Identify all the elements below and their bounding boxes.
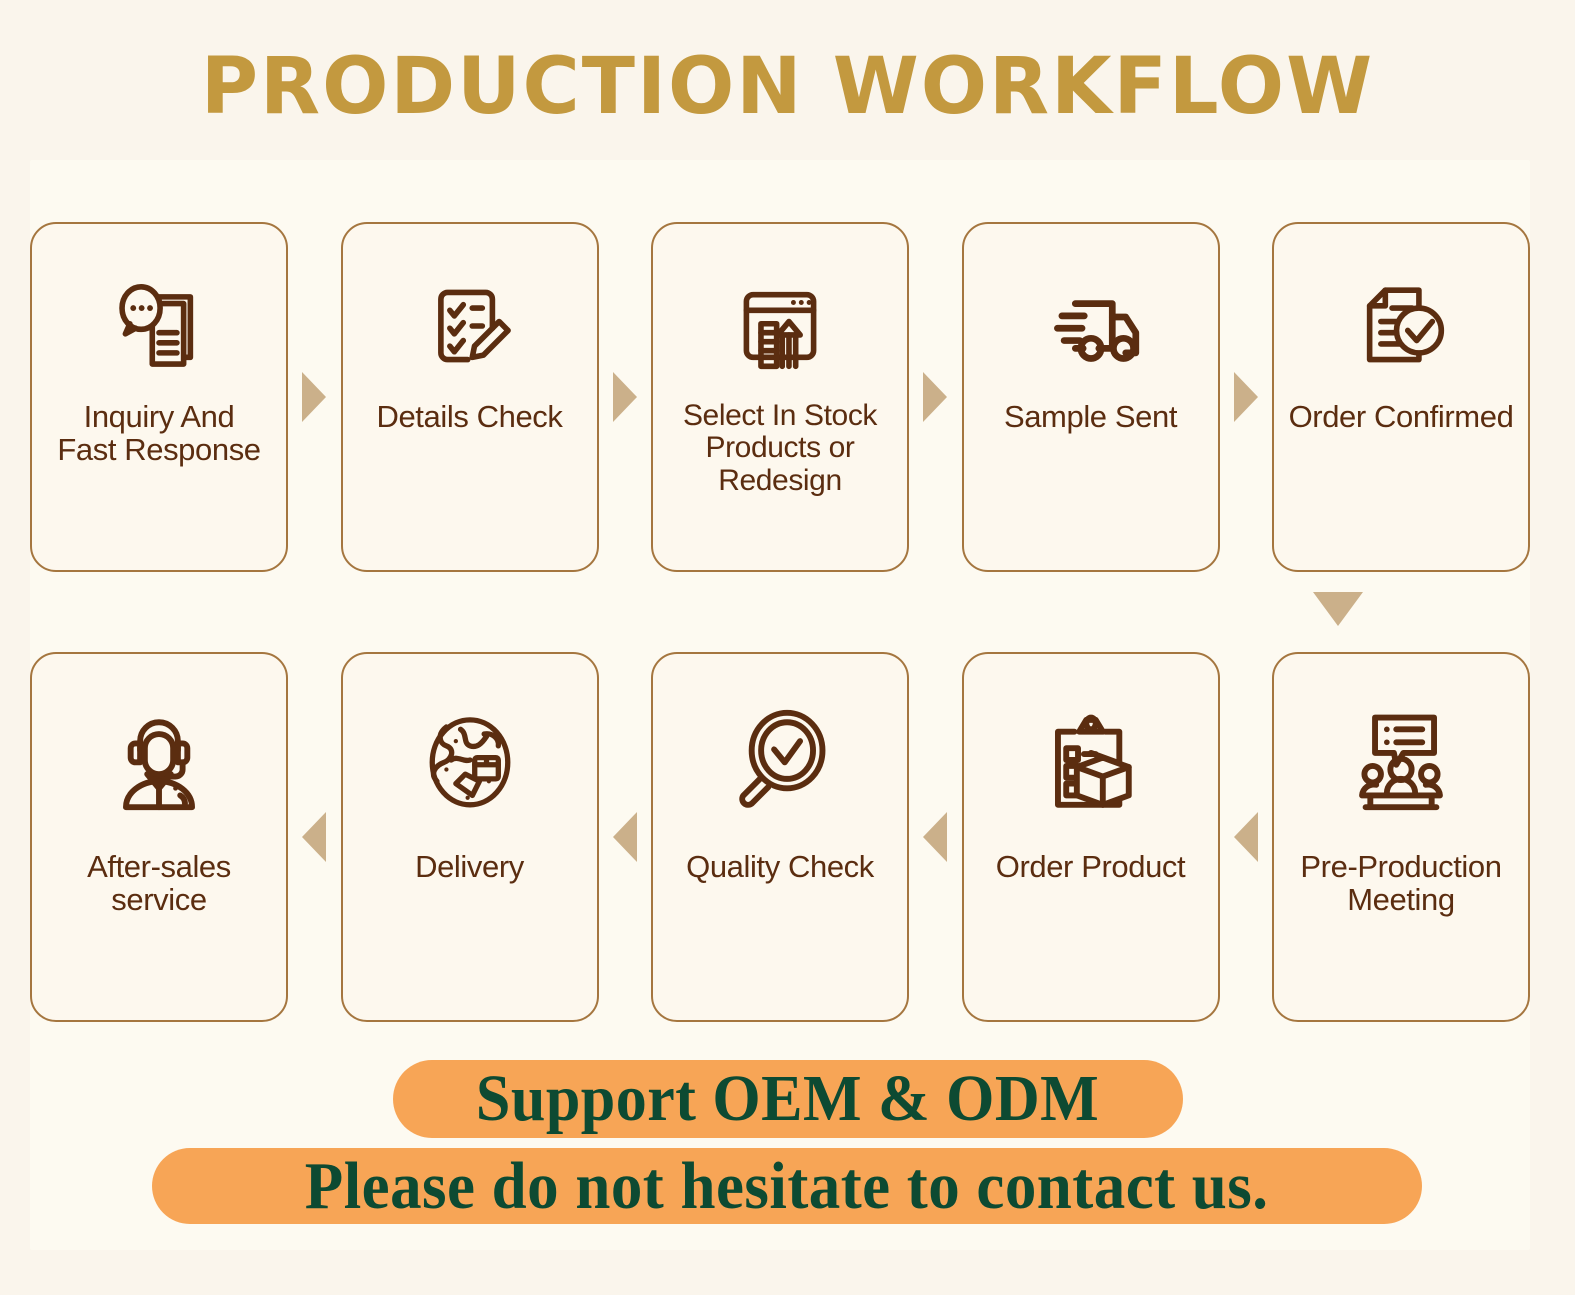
browser-chart-icon xyxy=(720,266,840,386)
workflow-card-label: Order Confirmed xyxy=(1284,400,1518,433)
banner-contact-us: Please do not hesitate to contact us. xyxy=(152,1148,1422,1224)
delivery-truck-icon xyxy=(1031,266,1151,386)
triangle-left-icon xyxy=(923,812,947,862)
flow-connector xyxy=(288,652,341,1022)
flow-connector xyxy=(288,222,341,572)
globe-package-icon xyxy=(410,700,530,820)
workflow-card-label: Pre-Production Meeting xyxy=(1284,850,1518,917)
clipboard-box-icon xyxy=(1031,700,1151,820)
meeting-people-icon xyxy=(1341,700,1461,820)
banner-text: Support OEM & ODM xyxy=(476,1061,1099,1137)
workflow-card-label: Inquiry And Fast Response xyxy=(42,400,276,467)
flow-connector xyxy=(1220,652,1273,1022)
headset-agent-icon xyxy=(99,700,219,820)
workflow-card-label: Details Check xyxy=(353,400,587,433)
workflow-card-order-product[interactable]: Order Product xyxy=(962,652,1220,1022)
flow-connector xyxy=(909,652,962,1022)
banner-support-oem-odm: Support OEM & ODM xyxy=(393,1060,1183,1138)
triangle-right-icon xyxy=(1234,372,1258,422)
flow-connector xyxy=(599,652,652,1022)
flow-connector xyxy=(599,222,652,572)
workflow-card-details-check[interactable]: Details Check xyxy=(341,222,599,572)
workflow-row-2: After-sales service xyxy=(30,652,1530,1022)
workflow-row-1: Inquiry And Fast Response Details Check xyxy=(30,222,1530,572)
workflow-card-label: Order Product xyxy=(974,850,1208,883)
flow-connector xyxy=(909,222,962,572)
workflow-card-label: Select In Stock Products or Redesign xyxy=(663,400,897,497)
page-title: PRODUCTION WORKFLOW xyxy=(0,48,1575,126)
workflow-card-label: Sample Sent xyxy=(974,400,1208,433)
workflow-card-quality-check[interactable]: Quality Check xyxy=(651,652,909,1022)
checklist-pencil-icon xyxy=(410,266,530,386)
banner-text: Please do not hesitate to contact us. xyxy=(305,1148,1269,1225)
triangle-right-icon xyxy=(923,372,947,422)
workflow-card-inquiry-and-fast-response[interactable]: Inquiry And Fast Response xyxy=(30,222,288,572)
workflow-card-pre-production-meeting[interactable]: Pre-Production Meeting xyxy=(1272,652,1530,1022)
triangle-left-icon xyxy=(302,812,326,862)
workflow-card-label: After-sales service xyxy=(42,850,276,917)
workflow-card-select-in-stock-products[interactable]: Select In Stock Products or Redesign xyxy=(651,222,909,572)
workflow-card-label: Quality Check xyxy=(663,850,897,883)
triangle-left-icon xyxy=(1234,812,1258,862)
workflow-card-delivery[interactable]: Delivery xyxy=(341,652,599,1022)
triangle-right-icon xyxy=(302,372,326,422)
magnifier-check-icon xyxy=(720,700,840,820)
workflow-card-sample-sent[interactable]: Sample Sent xyxy=(962,222,1220,572)
chat-document-icon xyxy=(99,266,219,386)
triangle-right-icon xyxy=(613,372,637,422)
workflow-card-order-confirmed[interactable]: Order Confirmed xyxy=(1272,222,1530,572)
flow-connector xyxy=(1220,222,1273,572)
triangle-down-icon xyxy=(1313,592,1363,626)
workflow-card-after-sales-service[interactable]: After-sales service xyxy=(30,652,288,1022)
workflow-card-label: Delivery xyxy=(353,850,587,883)
triangle-left-icon xyxy=(613,812,637,862)
document-check-icon xyxy=(1341,266,1461,386)
